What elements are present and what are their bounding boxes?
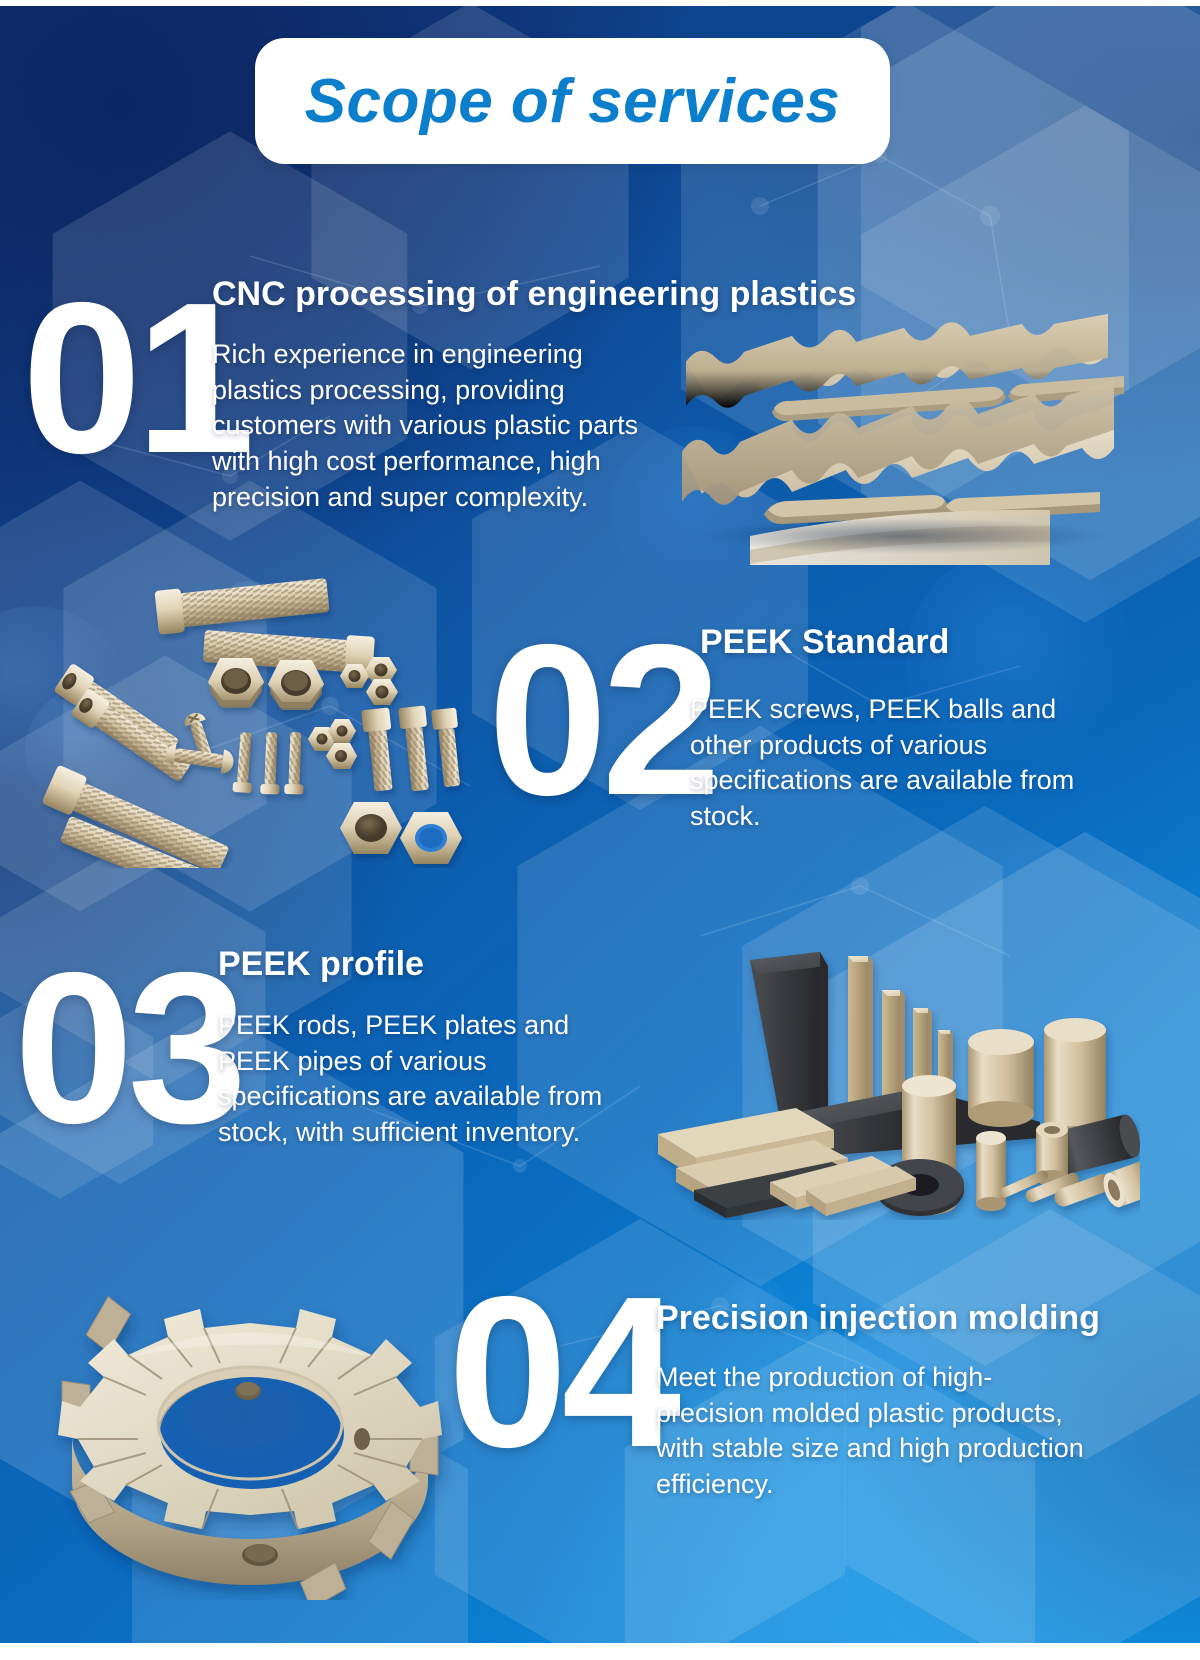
section-number-02: 02 xyxy=(488,628,715,813)
product-image-cnc-part xyxy=(668,300,1138,565)
product-image-peek-ring xyxy=(40,1255,460,1600)
section-body-02: PEEK screws, PEEK balls and other produc… xyxy=(690,692,1120,835)
section-heading-03: PEEK profile xyxy=(218,946,424,983)
product-image-peek-fasteners xyxy=(40,548,470,868)
peek-profiles-illustration xyxy=(620,890,1140,1220)
title-card: Scope of services xyxy=(255,38,890,164)
section-number-03: 03 xyxy=(14,956,241,1141)
section-heading-02: PEEK Standard xyxy=(700,624,949,661)
product-shadow xyxy=(698,518,1108,554)
section-body-03: PEEK rods, PEEK plates and PEEK pipes of… xyxy=(218,1008,638,1151)
section-body-04: Meet the production of high-precision mo… xyxy=(656,1360,1096,1503)
top-hairline xyxy=(0,0,1200,6)
section-heading-01: CNC processing of engineering plastics xyxy=(212,276,856,313)
section-body-01: Rich experience in engineering plastics … xyxy=(212,337,652,515)
section-heading-04: Precision injection molding xyxy=(656,1300,1100,1337)
infographic-poster: Scope of services xyxy=(0,0,1200,1660)
bottom-hairline xyxy=(0,1643,1200,1660)
peek-fasteners-illustration xyxy=(40,548,470,868)
peek-notched-ring-illustration xyxy=(40,1255,460,1600)
section-number-04: 04 xyxy=(448,1280,675,1465)
product-image-peek-profiles xyxy=(620,890,1140,1220)
page-title: Scope of services xyxy=(305,66,841,137)
